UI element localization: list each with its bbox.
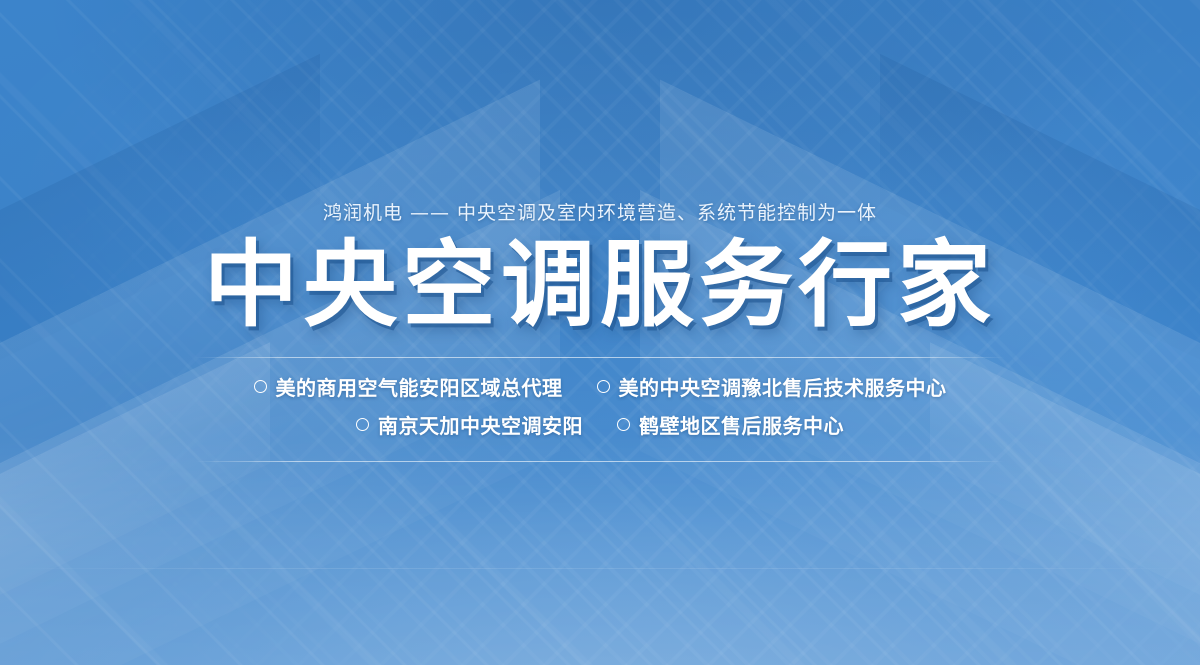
tagline-label: 鹤壁地区售后服务中心: [639, 410, 844, 439]
tagline-label: 南京天加中央空调安阳: [378, 410, 583, 439]
tagline-item: 南京天加中央空调安阳: [356, 410, 583, 439]
tagline-label: 美的商用空气能安阳区域总代理: [276, 372, 563, 401]
promo-banner: 鸿润机电 —— 中央空调及室内环境营造、系统节能控制为一体 中央空调服务行家 美…: [0, 0, 1200, 665]
circle-outline-icon: [617, 418, 630, 431]
banner-headline: 中央空调服务行家: [204, 237, 996, 335]
tagline-row: 南京天加中央空调安阳 鹤壁地区售后服务中心: [356, 410, 844, 439]
tagline-item: 美的商用空气能安阳区域总代理: [254, 372, 563, 401]
circle-outline-icon: [254, 380, 267, 393]
circle-outline-icon: [597, 380, 610, 393]
banner-subtitle: 鸿润机电 —— 中央空调及室内环境营造、系统节能控制为一体: [323, 198, 877, 225]
tagline-label: 美的中央空调豫北售后技术服务中心: [619, 372, 947, 401]
tagline-item: 鹤壁地区售后服务中心: [617, 410, 844, 439]
banner-content: 鸿润机电 —— 中央空调及室内环境营造、系统节能控制为一体 中央空调服务行家 美…: [0, 0, 1200, 665]
tagline-row: 美的商用空气能安阳区域总代理 美的中央空调豫北售后技术服务中心: [254, 372, 947, 401]
divider-bottom: [195, 461, 1005, 462]
tagline-item: 美的中央空调豫北售后技术服务中心: [597, 372, 947, 401]
tagline-list: 美的商用空气能安阳区域总代理 美的中央空调豫北售后技术服务中心 南京天加中央空调…: [254, 358, 947, 439]
circle-outline-icon: [356, 418, 369, 431]
